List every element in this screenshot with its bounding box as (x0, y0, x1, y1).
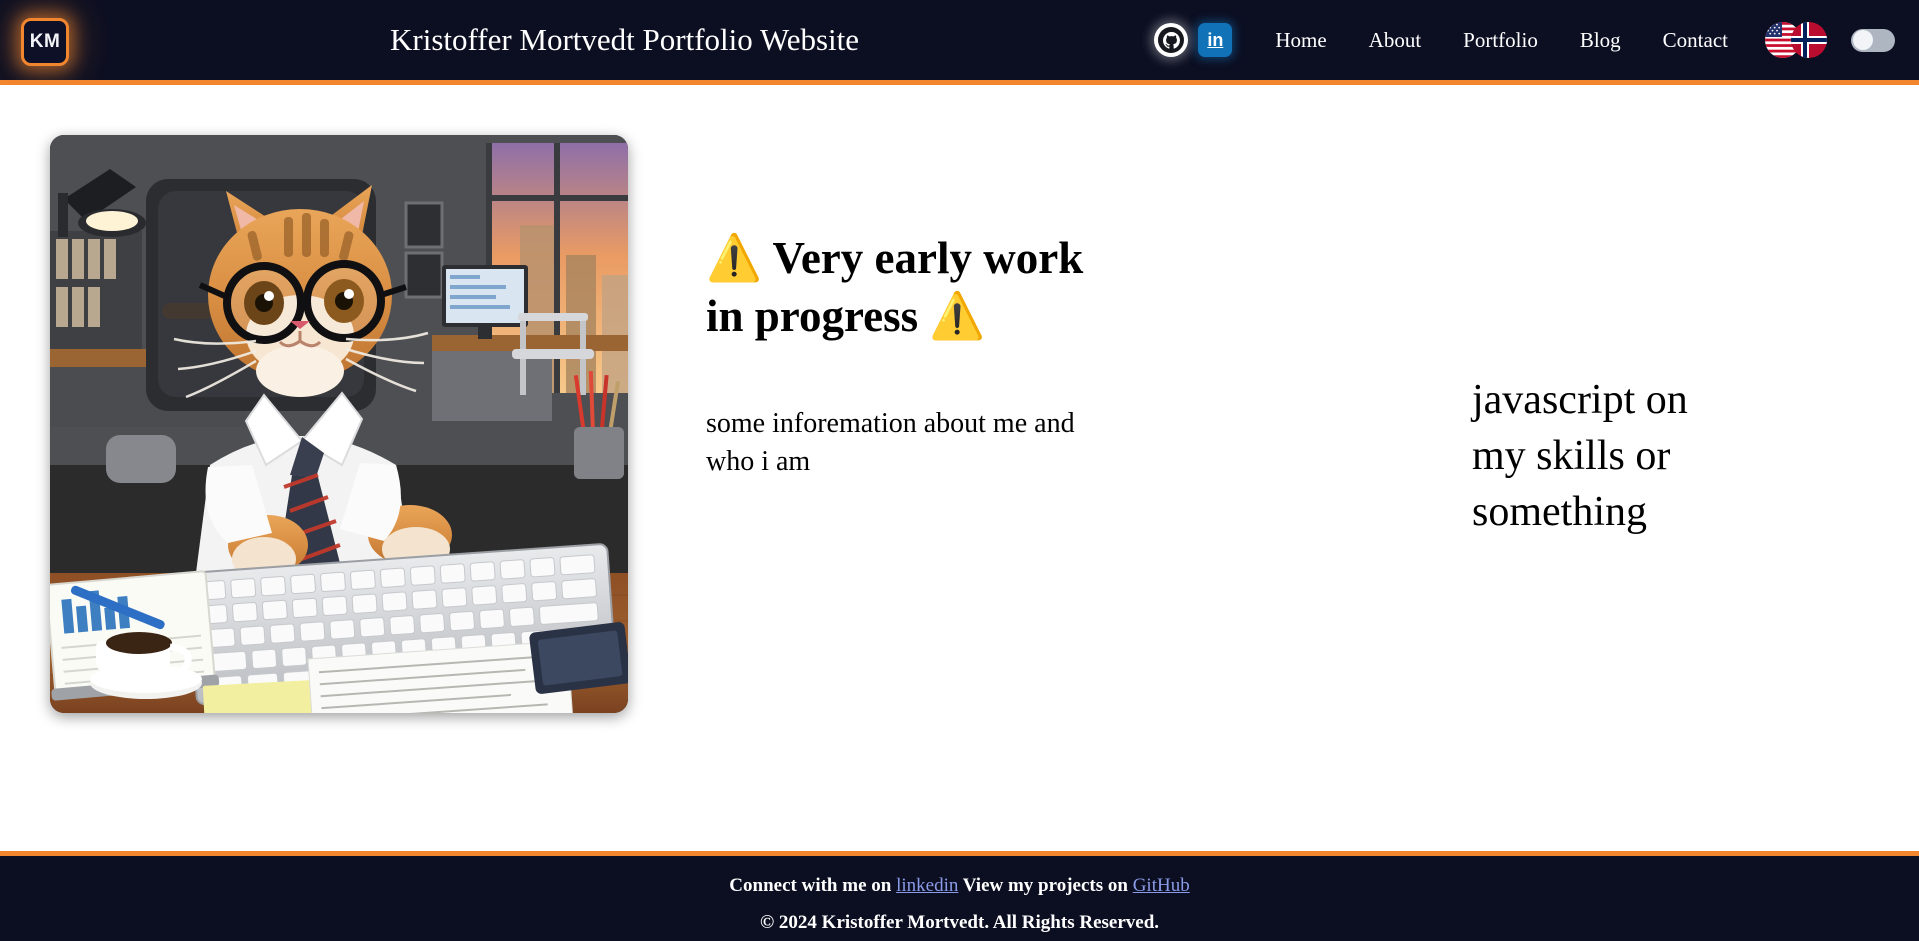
theme-toggle[interactable] (1851, 29, 1895, 52)
nav-links: Home About Portfolio Blog Contact (1254, 24, 1749, 57)
footer-projects-prefix: View my projects on (963, 875, 1128, 896)
site-footer: Connect with me on linkedin View my proj… (0, 851, 1919, 941)
github-icon[interactable] (1154, 23, 1188, 57)
intro-heading: ⚠️ Very early work in progress ⚠️ (706, 230, 1086, 345)
language-switcher (1765, 22, 1827, 58)
logo-initials: KM (30, 31, 61, 53)
social-links: in (1154, 23, 1232, 57)
site-header: KM Kristoffer Mortvedt Portfolio Website… (0, 0, 1919, 85)
hero-image (50, 135, 628, 713)
nav-item-home[interactable]: Home (1254, 24, 1347, 57)
page-title: Kristoffer Mortvedt Portfolio Website (390, 22, 859, 58)
footer-linkedin-link[interactable]: linkedin (896, 875, 958, 896)
skills-text: javascript on my skills or something (1472, 373, 1742, 541)
footer-connect-line: Connect with me on linkedin View my proj… (0, 875, 1919, 897)
linkedin-icon[interactable]: in (1198, 23, 1232, 57)
intro-paragraph: some inforemation about me and who i am (706, 405, 1086, 481)
logo-badge: KM (21, 18, 69, 66)
footer-copyright: © 2024 Kristoffer Mortvedt. All Rights R… (0, 912, 1919, 934)
flag-norway-icon[interactable] (1791, 22, 1827, 58)
github-icon-circle (1158, 27, 1184, 53)
nav-item-portfolio[interactable]: Portfolio (1442, 24, 1559, 57)
footer-connect-prefix: Connect with me on (729, 875, 891, 896)
header-nav: in Home About Portfolio Blog Contact (1154, 22, 1905, 58)
site-logo[interactable]: KM (17, 14, 73, 70)
footer-github-link[interactable]: GitHub (1133, 875, 1190, 896)
nav-item-contact[interactable]: Contact (1642, 24, 1749, 57)
nav-item-about[interactable]: About (1348, 24, 1443, 57)
nav-item-blog[interactable]: Blog (1559, 24, 1642, 57)
theme-toggle-knob (1853, 30, 1873, 50)
main-content: ⚠️ Very early work in progress ⚠️ some i… (0, 85, 1919, 851)
intro-block: ⚠️ Very early work in progress ⚠️ some i… (706, 230, 1086, 481)
